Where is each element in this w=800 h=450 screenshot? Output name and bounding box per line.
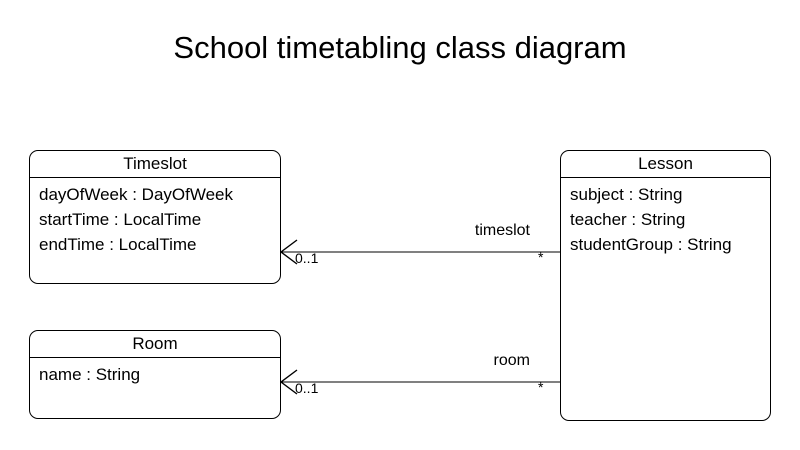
association-multiplicity-timeslot-target: 0..1 [295,250,318,266]
uml-class-name-timeslot: Timeslot [30,151,280,178]
uml-attribute: startTime : LocalTime [39,207,280,232]
uml-attribute: subject : String [570,182,770,207]
uml-class-lesson[interactable]: Lesson subject : String teacher : String… [560,150,771,421]
uml-attributes-timeslot: dayOfWeek : DayOfWeek startTime : LocalT… [30,178,280,257]
association-multiplicity-room-target: 0..1 [295,380,318,396]
page-title: School timetabling class diagram [0,28,800,68]
uml-attribute: endTime : LocalTime [39,232,280,257]
uml-attribute: dayOfWeek : DayOfWeek [39,182,280,207]
association-multiplicity-room-source: * [538,379,543,395]
uml-attribute: teacher : String [570,207,770,232]
association-multiplicity-timeslot-source: * [538,249,543,265]
uml-attributes-room: name : String [30,358,280,387]
uml-class-timeslot[interactable]: Timeslot dayOfWeek : DayOfWeek startTime… [29,150,281,284]
uml-class-room[interactable]: Room name : String [29,330,281,419]
uml-attributes-lesson: subject : String teacher : String studen… [561,178,770,257]
association-timeslot-connector [281,240,560,264]
uml-attribute: studentGroup : String [570,232,770,257]
uml-class-name-room: Room [30,331,280,358]
association-room-connector [281,370,560,394]
association-label-room: room [410,352,530,370]
uml-class-name-lesson: Lesson [561,151,770,178]
association-label-timeslot: timeslot [400,222,530,240]
uml-attribute: name : String [39,362,280,387]
